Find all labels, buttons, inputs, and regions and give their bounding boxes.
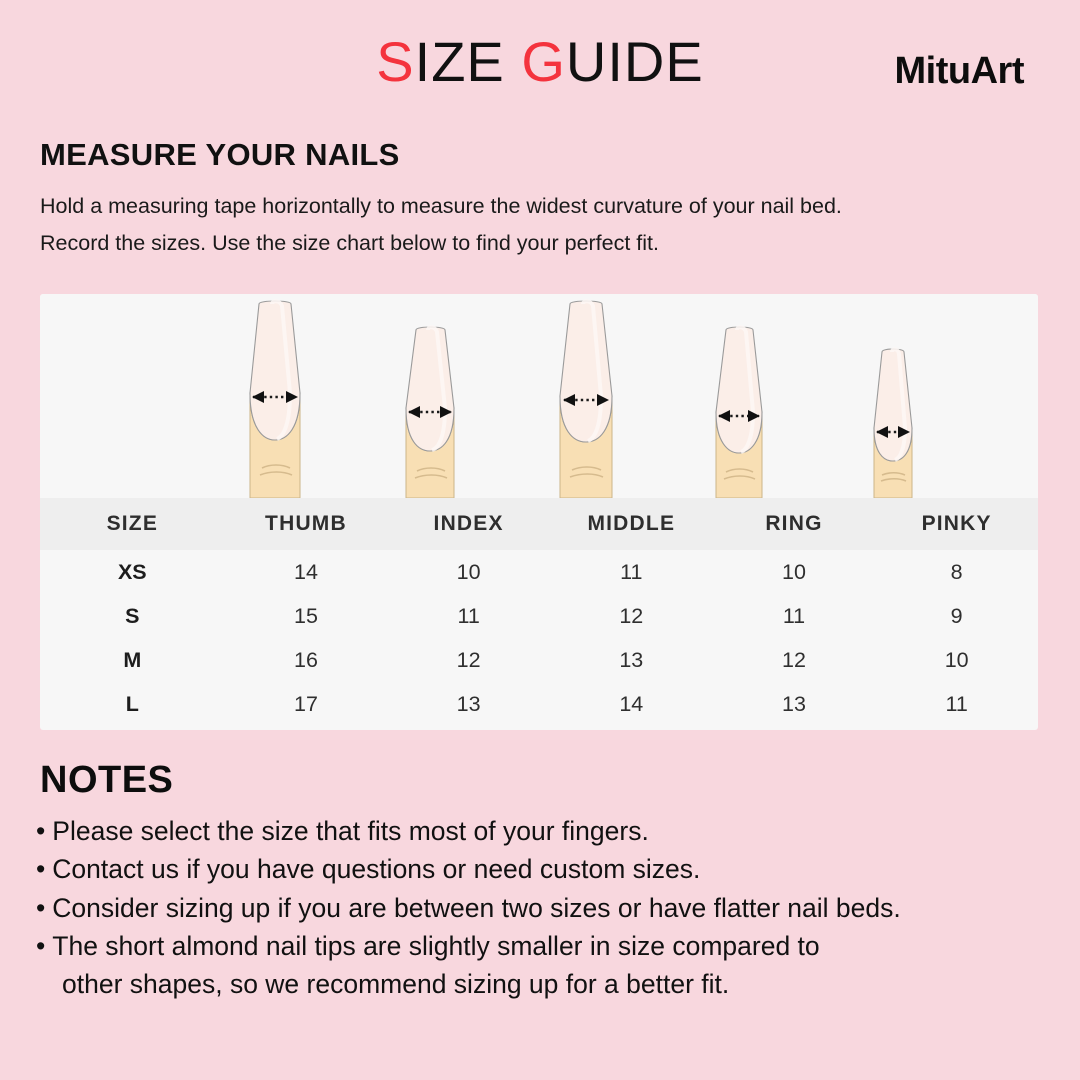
nail-diagram-row [40, 294, 1038, 498]
note-item-4-continuation: other shapes, so we recommend sizing up … [36, 965, 1060, 1003]
title-text-ize: IZE [415, 30, 522, 93]
cell-index-xs: 10 [387, 550, 550, 594]
column-header-middle: MIDDLE [550, 498, 713, 550]
table-header-row: SIZE THUMB INDEX MIDDLE RING PINKY [40, 498, 1038, 550]
note-item-3: •Consider sizing up if you are between t… [36, 889, 1060, 927]
brand-logo: MituArt [895, 52, 1024, 90]
middle-finger-icon [530, 298, 642, 498]
title-accent-s: S [376, 30, 414, 93]
bullet-icon: • [36, 931, 45, 961]
cell-ring-s: 11 [713, 594, 876, 638]
nail-illustration-ring [688, 312, 790, 498]
column-header-size: SIZE [40, 498, 225, 550]
cell-index-m: 12 [387, 638, 550, 682]
note-item-2: •Contact us if you have questions or nee… [36, 850, 1060, 888]
column-header-pinky: PINKY [875, 498, 1038, 550]
nail-illustration-thumb [220, 298, 330, 498]
title-accent-g: G [521, 30, 566, 93]
thumb-finger-icon [220, 298, 330, 498]
column-header-thumb: THUMB [225, 498, 388, 550]
cell-size-xs: XS [40, 550, 225, 594]
cell-pinky-xs: 8 [875, 550, 1038, 594]
table-row: S 15 11 12 11 9 [40, 594, 1038, 638]
cell-ring-l: 13 [713, 682, 876, 726]
cell-middle-m: 13 [550, 638, 713, 682]
table-row: L 17 13 14 13 11 [40, 682, 1038, 726]
section-heading-measure: MEASURE YOUR NAILS [40, 138, 1040, 172]
cell-ring-m: 12 [713, 638, 876, 682]
column-header-ring: RING [713, 498, 876, 550]
note-item-4: •The short almond nail tips are slightly… [36, 927, 1060, 965]
index-finger-icon [378, 312, 482, 498]
column-header-index: INDEX [387, 498, 550, 550]
cell-thumb-xs: 14 [225, 550, 388, 594]
ring-finger-icon [688, 312, 790, 498]
note-item-2-text: Contact us if you have questions or need… [52, 854, 700, 884]
cell-thumb-m: 16 [225, 638, 388, 682]
note-item-1: •Please select the size that fits most o… [36, 812, 1060, 850]
note-item-4-text: The short almond nail tips are slightly … [52, 931, 819, 961]
bullet-icon: • [36, 816, 45, 846]
cell-thumb-l: 17 [225, 682, 388, 726]
page-header: SIZE GUIDE MituArt [0, 0, 1080, 120]
cell-middle-l: 14 [550, 682, 713, 726]
cell-index-l: 13 [387, 682, 550, 726]
cell-size-l: L [40, 682, 225, 726]
cell-thumb-s: 15 [225, 594, 388, 638]
measure-your-nails-section: MEASURE YOUR NAILS Hold a measuring tape… [0, 120, 1080, 262]
measure-description-line-2: Record the sizes. Use the size chart bel… [40, 225, 1040, 262]
nail-illustration-index [378, 312, 482, 498]
bullet-icon: • [36, 854, 45, 884]
cell-size-s: S [40, 594, 225, 638]
note-item-1-text: Please select the size that fits most of… [52, 816, 649, 846]
measure-description: Hold a measuring tape horizontally to me… [40, 188, 1040, 262]
size-chart-table: SIZE THUMB INDEX MIDDLE RING PINKY XS 14… [40, 498, 1038, 726]
nail-illustration-pinky [848, 338, 938, 498]
cell-ring-xs: 10 [713, 550, 876, 594]
title-text-uide: UIDE [566, 30, 704, 93]
notes-section: NOTES •Please select the size that fits … [36, 760, 1060, 1004]
notes-heading: NOTES [40, 760, 1060, 802]
cell-pinky-m: 10 [875, 638, 1038, 682]
cell-pinky-s: 9 [875, 594, 1038, 638]
cell-middle-s: 12 [550, 594, 713, 638]
table-row: XS 14 10 11 10 8 [40, 550, 1038, 594]
cell-size-m: M [40, 638, 225, 682]
cell-middle-xs: 11 [550, 550, 713, 594]
bullet-icon: • [36, 893, 45, 923]
cell-pinky-l: 11 [875, 682, 1038, 726]
cell-index-s: 11 [387, 594, 550, 638]
table-row: M 16 12 13 12 10 [40, 638, 1038, 682]
nail-illustration-middle [530, 298, 642, 498]
measure-description-line-1: Hold a measuring tape horizontally to me… [40, 188, 1040, 225]
note-item-3-text: Consider sizing up if you are between tw… [52, 893, 900, 923]
size-chart-card: SIZE THUMB INDEX MIDDLE RING PINKY XS 14… [40, 294, 1038, 730]
pinky-finger-icon [848, 338, 938, 498]
